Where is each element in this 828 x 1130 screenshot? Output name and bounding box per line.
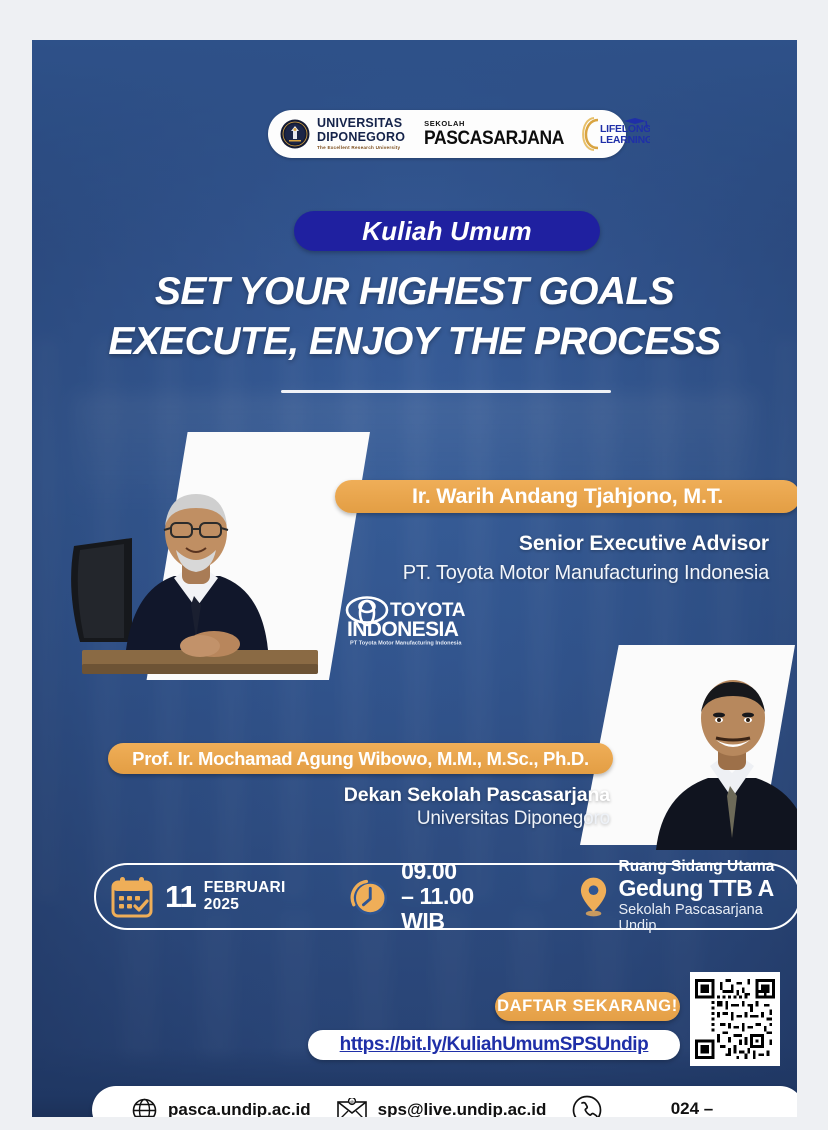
title-line-2: EXECUTE, ENJOY THE PROCESS bbox=[32, 317, 797, 367]
svg-text:LIFELONG: LIFELONG bbox=[600, 123, 650, 135]
clock-icon bbox=[347, 875, 390, 919]
speaker1-photo bbox=[64, 432, 344, 682]
envelope-icon: @ bbox=[337, 1098, 367, 1117]
event-time-end: – 11.00 WIB bbox=[401, 884, 519, 935]
speaker1-name-badge: Ir. Warih Andang Tjahjono, M.T. bbox=[335, 480, 797, 513]
poster-page: UNIVERSITAS DIPONEGORO The Excellent Res… bbox=[0, 0, 828, 1130]
pascasarjana-label: PASCASARJANA bbox=[424, 129, 564, 148]
undip-wordmark: UNIVERSITAS DIPONEGORO The Excellent Res… bbox=[317, 117, 405, 150]
map-pin-icon bbox=[579, 874, 608, 920]
svg-text:@: @ bbox=[350, 1099, 354, 1104]
phone-line-1: 024 – bbox=[671, 1099, 714, 1117]
email-text: sps@live.undip.ac.id bbox=[378, 1100, 547, 1117]
event-type-badge: Kuliah Umum bbox=[294, 211, 600, 251]
speaker2-organization: Universitas Diponegoro bbox=[32, 808, 610, 830]
svg-text:PT Toyota Motor Manufacturing: PT Toyota Motor Manufacturing Indonesia bbox=[350, 641, 462, 647]
undip-seal-icon bbox=[280, 119, 310, 149]
event-details-bar: 11 FEBRUARI 2025 09.00 – 11.00 WIB bbox=[94, 863, 797, 930]
contact-website[interactable]: pasca.undip.ac.id bbox=[132, 1098, 311, 1118]
undip-line2: DIPONEGORO bbox=[317, 131, 405, 144]
event-poster: UNIVERSITAS DIPONEGORO The Excellent Res… bbox=[32, 40, 797, 1117]
undip-line1: UNIVERSITAS bbox=[317, 117, 405, 130]
speaker1-role: Senior Executive Advisor bbox=[519, 532, 769, 556]
speaker1-name: Ir. Warih Andang Tjahjono, M.T. bbox=[412, 484, 723, 509]
event-venue: Ruang Sidang Utama Gedung TTB A Sekolah … bbox=[619, 858, 797, 934]
speaker2-portrait-image bbox=[648, 670, 797, 850]
title-divider bbox=[281, 390, 611, 393]
event-time: 09.00 – 11.00 WIB bbox=[401, 859, 519, 935]
event-date-block: 11 FEBRUARI 2025 bbox=[110, 875, 285, 919]
speaker2-photo bbox=[580, 645, 797, 850]
lifelong-learning-icon: LIFELONG LEARNING bbox=[576, 114, 650, 154]
registration-qr-code[interactable] bbox=[690, 972, 780, 1066]
undip-tagline: The Excellent Research University bbox=[317, 146, 405, 151]
event-month-year: FEBRUARI 2025 bbox=[204, 880, 286, 913]
page-title: SET YOUR HIGHEST GOALS EXECUTE, ENJOY TH… bbox=[32, 267, 797, 367]
sekolah-label: SEKOLAH bbox=[424, 120, 576, 128]
speaker2-name-badge: Prof. Ir. Mochamad Agung Wibowo, M.M., M… bbox=[108, 743, 613, 774]
register-now-label: DAFTAR SEKARANG! bbox=[497, 997, 678, 1016]
venue-line-1: Ruang Sidang Utama bbox=[619, 858, 797, 875]
qr-code-icon bbox=[695, 977, 775, 1061]
speaker2-role: Dekan Sekolah Pascasarjana bbox=[32, 784, 610, 807]
contact-email[interactable]: @ sps@live.undip.ac.id bbox=[337, 1098, 547, 1117]
svg-text:INDONESIA: INDONESIA bbox=[347, 618, 459, 641]
registration-link: https://bit.ly/KuliahUmumSPSUndip bbox=[340, 1034, 649, 1056]
toyota-indonesia-logo: TOYOTA INDONESIA PT Toyota Motor Manufac… bbox=[344, 595, 494, 647]
speaker1-organization: PT. Toyota Motor Manufacturing Indonesia bbox=[403, 562, 769, 585]
speaker1-portrait-image bbox=[64, 474, 326, 682]
header-logo-bar: UNIVERSITAS DIPONEGORO The Excellent Res… bbox=[268, 110, 626, 158]
event-time-start: 09.00 bbox=[401, 859, 519, 884]
phone-number: 024 – 8318856 bbox=[632, 1097, 752, 1117]
svg-text:LEARNING: LEARNING bbox=[600, 134, 650, 146]
event-time-block: 09.00 – 11.00 WIB bbox=[347, 859, 519, 935]
register-now-button[interactable]: DAFTAR SEKARANG! bbox=[495, 992, 680, 1021]
phone-icon bbox=[572, 1095, 602, 1117]
event-month: FEBRUARI bbox=[204, 880, 286, 897]
event-location-block: Ruang Sidang Utama Gedung TTB A Sekolah … bbox=[579, 858, 797, 934]
calendar-icon bbox=[110, 875, 154, 919]
venue-line-3: Sekolah Pascasarjana Undip bbox=[619, 903, 797, 935]
event-type-label: Kuliah Umum bbox=[362, 216, 532, 247]
website-text: pasca.undip.ac.id bbox=[168, 1100, 311, 1117]
venue-line-2: Gedung TTB A bbox=[619, 876, 797, 901]
globe-icon bbox=[132, 1098, 157, 1118]
event-day: 11 bbox=[165, 879, 196, 915]
speaker2-name: Prof. Ir. Mochamad Agung Wibowo, M.M., M… bbox=[132, 748, 589, 770]
event-year: 2025 bbox=[204, 897, 286, 914]
pascasarjana-wordmark: SEKOLAH PASCASARJANA bbox=[424, 120, 576, 149]
contact-phone[interactable] bbox=[572, 1095, 602, 1117]
registration-link-pill[interactable]: https://bit.ly/KuliahUmumSPSUndip bbox=[308, 1030, 680, 1060]
title-line-1: SET YOUR HIGHEST GOALS bbox=[155, 270, 674, 313]
